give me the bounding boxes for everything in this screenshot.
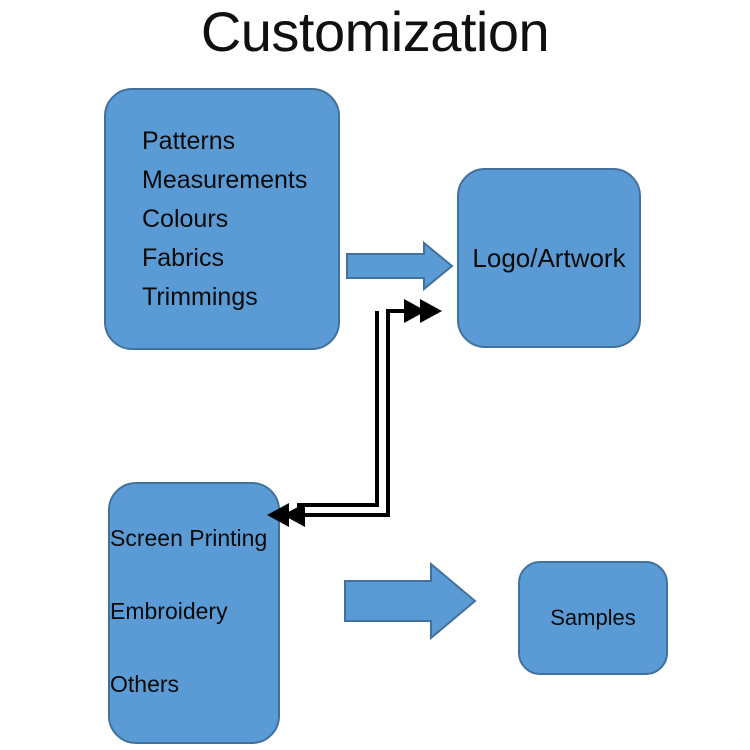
logo-artwork-label: Logo/Artwork bbox=[472, 243, 625, 273]
attributes-list: Patterns Measurements Colours Fabrics Tr… bbox=[142, 90, 402, 348]
methods-list: Screen Printing Embroidery Others bbox=[110, 484, 310, 742]
list-item: Fabrics bbox=[142, 239, 224, 278]
list-item: Others bbox=[110, 670, 179, 698]
diagram-canvas: Customization Patterns Measurements Colo… bbox=[0, 0, 750, 750]
page-title: Customization bbox=[0, 2, 750, 62]
list-item: Patterns bbox=[142, 122, 235, 161]
methods-box[interactable]: Screen Printing Embroidery Others bbox=[108, 482, 280, 744]
samples-label: Samples bbox=[550, 605, 636, 631]
double-chevron-right-icon bbox=[404, 299, 442, 323]
attributes-box[interactable]: Patterns Measurements Colours Fabrics Tr… bbox=[104, 88, 340, 350]
samples-box[interactable]: Samples bbox=[518, 561, 668, 675]
list-item: Colours bbox=[142, 200, 228, 239]
logo-artwork-box[interactable]: Logo/Artwork bbox=[457, 168, 641, 348]
list-item: Trimmings bbox=[142, 278, 258, 317]
list-item: Screen Printing bbox=[110, 524, 267, 552]
list-item: Measurements bbox=[142, 161, 307, 200]
list-item: Embroidery bbox=[110, 597, 228, 625]
block-arrow-methods-to-samples[interactable] bbox=[345, 564, 475, 638]
